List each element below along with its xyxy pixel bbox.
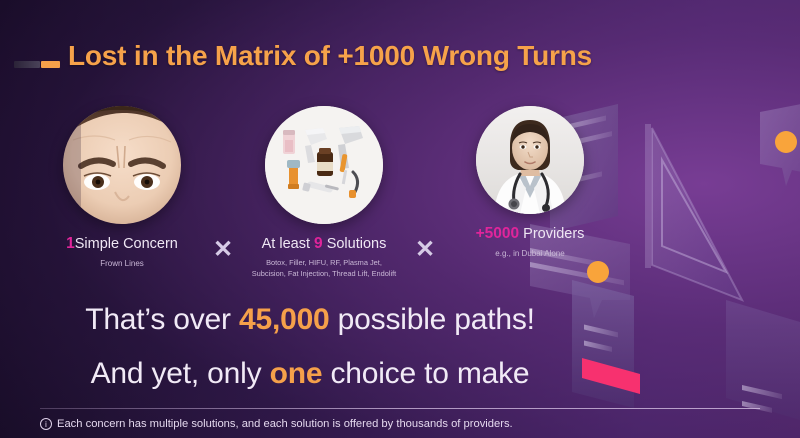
amber-bottle-icon: [317, 148, 333, 176]
concern-subtitle: Frown Lines: [52, 258, 192, 270]
multiply-icon-1: ✕: [213, 238, 233, 262]
female-doctor-photo: [476, 106, 584, 214]
statement-2-highlight: one: [270, 357, 323, 390]
accent-segment-orange: [41, 61, 60, 68]
accent-segment-dark: [14, 61, 40, 68]
orange-dot-1: [775, 131, 797, 153]
equation-item-providers: +5000 Providers e.g., in Dubai Alone: [450, 106, 610, 260]
providers-count: +5000: [476, 225, 520, 242]
iso-card-5: [726, 300, 800, 420]
statement-1-before: That’s over: [85, 303, 239, 336]
triangle-outline-shape: [648, 124, 742, 300]
concern-label-text: Simple Concern: [75, 236, 178, 252]
footer-note: i Each concern has multiple solutions, a…: [40, 418, 513, 430]
footer-divider: [40, 408, 760, 409]
equation-item-concern: 1Simple Concern Frown Lines: [52, 106, 192, 270]
statement-line-2: And yet, only one choice to make: [0, 357, 620, 391]
solutions-count: 9: [314, 235, 323, 252]
providers-label: +5000 Providers: [450, 225, 610, 243]
iso-card-2: [760, 100, 800, 186]
statement-1-highlight: 45,000: [239, 303, 330, 336]
statement-line-1: That’s over 45,000 possible paths!: [0, 303, 620, 337]
equation-row: 1Simple Concern Frown Lines ✕: [52, 106, 622, 286]
providers-label-text: Providers: [523, 226, 584, 242]
vial-icon: [283, 130, 295, 154]
providers-subtitle: e.g., in Dubai Alone: [450, 248, 610, 260]
concern-label: 1Simple Concern: [52, 235, 192, 253]
footer-note-text: Each concern has multiple solutions, and…: [57, 418, 513, 430]
page-title: Lost in the Matrix of +1000 Wrong Turns: [68, 40, 592, 72]
solutions-label-text: Solutions: [327, 236, 387, 252]
solutions-prefix: At least: [262, 236, 314, 252]
slide-canvas: Lost in the Matrix of +1000 Wrong Turns: [0, 0, 800, 438]
aesthetic-devices-collage: [265, 106, 383, 224]
statement-2-after: choice to make: [322, 357, 529, 390]
title-accent-line: [14, 61, 60, 68]
info-icon: i: [40, 418, 52, 430]
equation-item-solutions: At least 9 Solutions Botox, Filler, HIFU…: [248, 106, 400, 279]
statement-1-after: possible paths!: [330, 303, 535, 336]
solutions-label: At least 9 Solutions: [248, 235, 400, 253]
statement-2-before: And yet, only: [91, 357, 270, 390]
forehead-frown-lines-photo: [63, 106, 181, 224]
solutions-subtitle: Botox, Filler, HIFU, RF, Plasma Jet, Sub…: [248, 258, 400, 279]
concern-count: 1: [66, 235, 75, 252]
multiply-icon-2: ✕: [415, 238, 435, 262]
